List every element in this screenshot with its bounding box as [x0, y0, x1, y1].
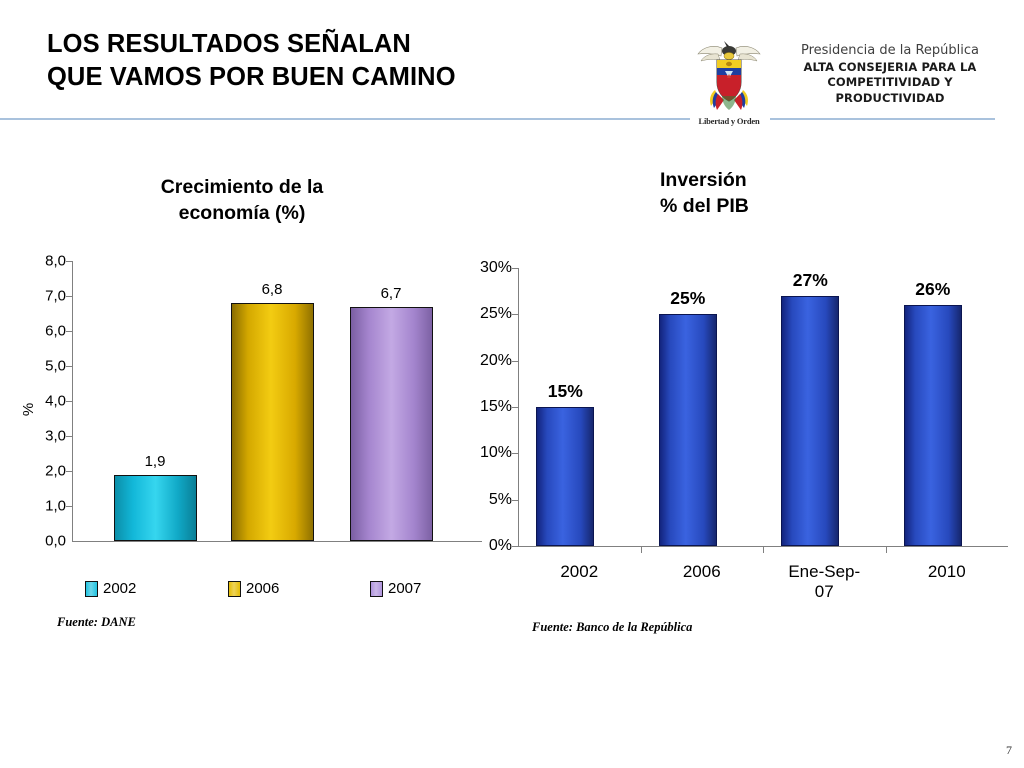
right-chart-y-tick	[512, 453, 518, 454]
left-chart-data-label: 1,9	[115, 453, 195, 470]
right-chart-y-tick	[512, 500, 518, 501]
right-chart-y-tick-label: 30%	[460, 259, 512, 277]
right-chart-y-tick-label: 5%	[460, 491, 512, 509]
left-chart-y-axis-label: %	[20, 403, 37, 416]
right-chart-y-tick-label: 25%	[460, 305, 512, 323]
left-chart-bar-2007[interactable]	[350, 307, 433, 542]
right-chart-y-tick	[512, 361, 518, 362]
header-divider-right	[770, 118, 995, 120]
org-line-presidencia: Presidencia de la República	[780, 42, 1000, 60]
legend-label: 2007	[388, 580, 421, 597]
left-chart-y-tick	[66, 506, 72, 507]
left-chart-data-label: 6,7	[351, 285, 431, 302]
right-chart-y-tick-label: 0%	[460, 537, 512, 555]
left-chart-y-tick	[66, 261, 72, 262]
left-chart-y-tick	[66, 296, 72, 297]
left-chart-legend: 200220062007	[0, 580, 490, 602]
colombia-coat-of-arms: Libertad y Orden	[690, 34, 768, 126]
organization-name: Presidencia de la República ALTA CONSEJE…	[780, 42, 1000, 106]
left-chart-y-tick	[66, 401, 72, 402]
right-chart-x-tick-label: 2010	[887, 562, 1007, 582]
left-chart-y-tick-label: 0,0	[18, 533, 66, 550]
page-title-line2: QUE VAMOS POR BUEN CAMINO	[47, 61, 667, 94]
left-chart-y-tick-label: 5,0	[18, 358, 66, 375]
left-chart-y-tick	[66, 331, 72, 332]
org-line-competitividad: COMPETITIVIDAD Y PRODUCTIVIDAD	[780, 75, 1000, 106]
legend-label: 2006	[246, 580, 279, 597]
chart-left-title-line2: economía (%)	[32, 201, 452, 227]
page-title: LOS RESULTADOS SEÑALAN QUE VAMOS POR BUE…	[47, 28, 667, 93]
right-chart-bar-0[interactable]	[536, 407, 594, 546]
org-line-consejeria: ALTA CONSEJERIA PARA LA	[780, 60, 1000, 76]
right-chart-x-tick-label: Ene-Sep- 07	[764, 562, 884, 603]
right-chart-bar-3[interactable]	[904, 305, 962, 546]
right-chart-y-tick-label: 20%	[460, 352, 512, 370]
left-chart-legend-item-2006[interactable]: 2006	[228, 580, 279, 597]
header-divider-left	[0, 118, 690, 120]
left-chart-y-tick-label: 2,0	[18, 463, 66, 480]
crest-caption: Libertad y Orden	[690, 116, 768, 126]
coat-of-arms-icon	[694, 34, 764, 114]
left-chart-y-tick	[66, 436, 72, 437]
left-chart-x-axis	[72, 541, 482, 542]
right-chart-x-tick	[886, 546, 887, 553]
page-number: 7	[1006, 743, 1012, 758]
right-chart-bar-2[interactable]	[781, 296, 839, 546]
right-chart-x-tick	[641, 546, 642, 553]
right-chart-data-label: 15%	[520, 381, 610, 402]
left-chart-y-tick-label: 1,0	[18, 498, 66, 515]
left-chart-y-tick-label: 3,0	[18, 428, 66, 445]
right-chart-data-label: 25%	[643, 288, 733, 309]
right-chart-y-tick	[512, 268, 518, 269]
left-chart-y-tick	[66, 471, 72, 472]
left-chart-source: Fuente: DANE	[57, 615, 136, 630]
right-chart-y-tick	[512, 407, 518, 408]
right-chart-y-tick-label: 10%	[460, 444, 512, 462]
chart-left-title: Crecimiento de la economía (%)	[32, 175, 452, 226]
left-chart-y-axis	[72, 261, 73, 541]
legend-swatch-icon	[370, 581, 383, 597]
left-chart-legend-item-2002[interactable]: 2002	[85, 580, 136, 597]
chart-inversion-pib: Inversión % del PIB 0%5%10%15%20%25%30% …	[460, 160, 1024, 650]
legend-swatch-icon	[228, 581, 241, 597]
right-chart-x-tick-label: 2002	[519, 562, 639, 582]
right-chart-y-axis	[518, 268, 519, 546]
page-title-line1: LOS RESULTADOS SEÑALAN	[47, 28, 667, 61]
right-chart-data-label: 26%	[888, 279, 978, 300]
left-chart-bar-2006[interactable]	[231, 303, 314, 541]
right-chart-data-label: 27%	[765, 270, 855, 291]
slide: LOS RESULTADOS SEÑALAN QUE VAMOS POR BUE…	[0, 0, 1024, 768]
right-chart-y-tick-label: 15%	[460, 398, 512, 416]
left-chart-y-tick	[66, 366, 72, 367]
right-chart-x-tick	[763, 546, 764, 553]
left-chart-y-tick-label: 8,0	[18, 253, 66, 270]
right-chart-y-tick	[512, 546, 518, 547]
left-chart-y-tick-label: 7,0	[18, 288, 66, 305]
legend-swatch-icon	[85, 581, 98, 597]
right-chart-y-tick	[512, 314, 518, 315]
chart-right-title: Inversión % del PIB	[660, 168, 900, 219]
right-chart-bar-1[interactable]	[659, 314, 717, 546]
left-chart-bar-2002[interactable]	[114, 475, 197, 542]
legend-label: 2002	[103, 580, 136, 597]
chart-right-title-line2: % del PIB	[660, 194, 900, 220]
right-chart-source: Fuente: Banco de la República	[532, 620, 692, 635]
left-chart-data-label: 6,8	[232, 281, 312, 298]
chart-crecimiento-economia: Crecimiento de la economía (%) 0,01,02,0…	[0, 165, 490, 645]
left-chart-y-tick-label: 6,0	[18, 323, 66, 340]
chart-right-title-line1: Inversión	[660, 168, 900, 194]
right-chart-x-tick-label: 2006	[642, 562, 762, 582]
chart-left-title-line1: Crecimiento de la	[32, 175, 452, 201]
left-chart-legend-item-2007[interactable]: 2007	[370, 580, 421, 597]
